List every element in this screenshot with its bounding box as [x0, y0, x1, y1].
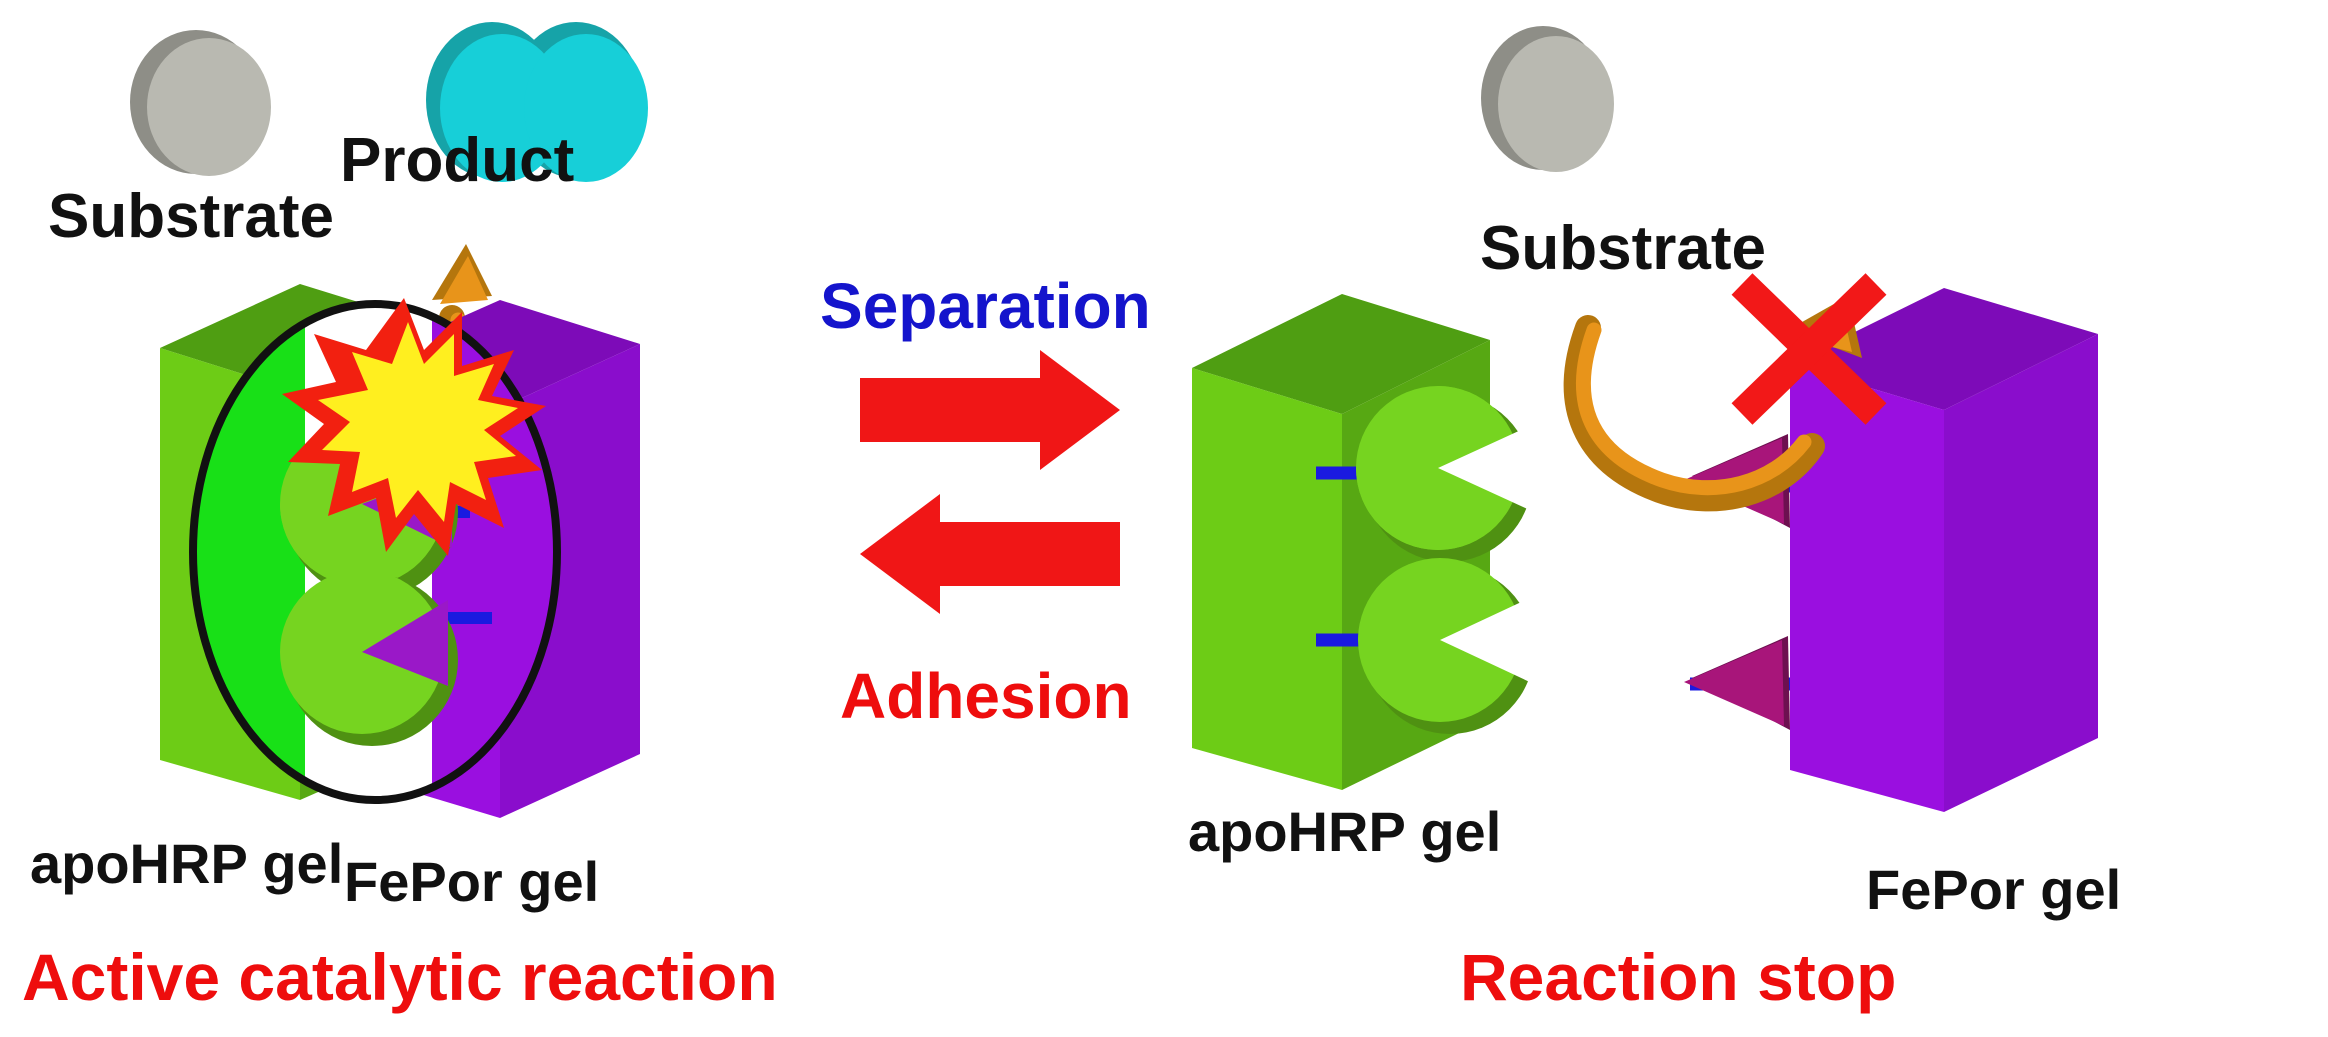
- figure-canvas: Substrate Product apoHRP gel FePor gel A…: [0, 0, 2328, 1037]
- scheme-illustration: Substrate Product apoHRP gel FePor gel A…: [0, 0, 2328, 1037]
- product-particle-icon: [426, 22, 648, 182]
